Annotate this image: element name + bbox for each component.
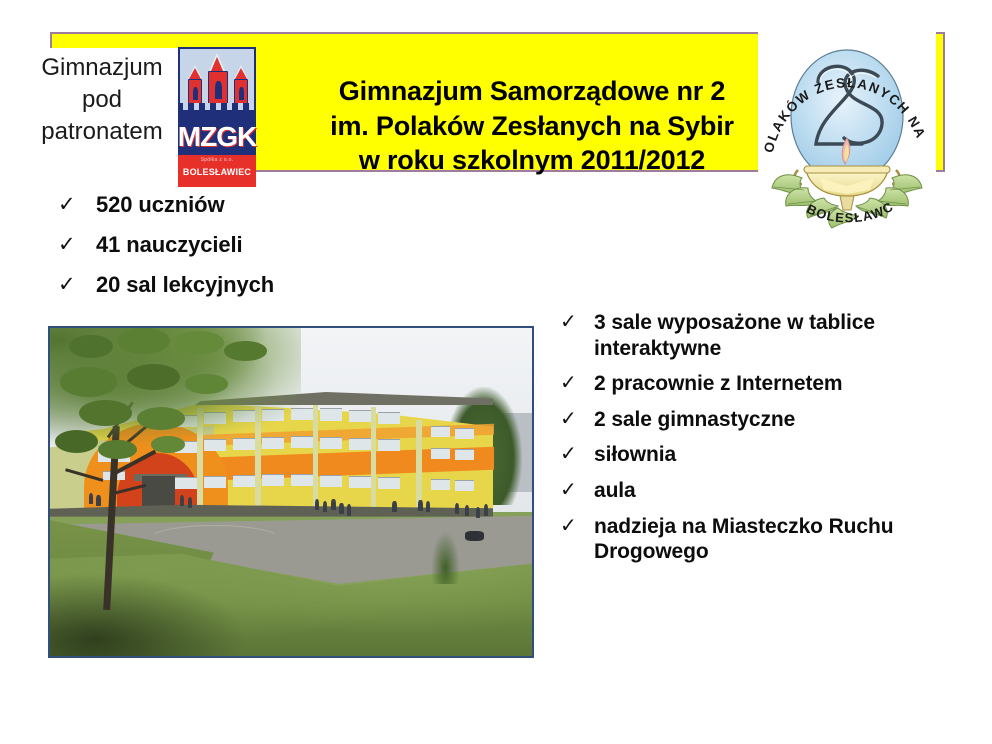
check-icon: ✓ xyxy=(560,371,594,395)
list-item-label: 41 nauczycieli xyxy=(96,232,243,259)
list-item: ✓ 2 sale gimnastyczne xyxy=(560,407,960,433)
school-building-photo xyxy=(48,326,534,658)
list-item: ✓ 520 uczniów xyxy=(58,192,478,219)
check-icon: ✓ xyxy=(58,192,96,217)
mzgk-city-text: BOLESŁAWIEC xyxy=(178,165,256,179)
check-icon: ✓ xyxy=(560,442,594,466)
school-emblem-icon: im. POLAKÓW ZESŁANYCH NA SYBIR w BOLESŁA… xyxy=(758,20,936,242)
check-icon: ✓ xyxy=(560,514,594,538)
list-item-label: 20 sal lekcyjnych xyxy=(96,272,274,299)
list-item: ✓ 20 sal lekcyjnych xyxy=(58,272,478,299)
list-item-label: nadzieja na Miasteczko Ruchu Drogowego xyxy=(594,514,960,565)
list-item-label: 520 uczniów xyxy=(96,192,225,219)
facts-list: ✓ 520 uczniów ✓ 41 nauczycieli ✓ 20 sal … xyxy=(58,192,478,311)
mzgk-wordmark: MZGK xyxy=(178,117,256,157)
mzgk-city-plate: Spółka z o.o. BOLESŁAWIEC xyxy=(178,155,256,187)
list-item-label: siłownia xyxy=(594,442,676,468)
photo-tree-shadow xyxy=(50,571,252,656)
check-icon: ✓ xyxy=(560,478,594,502)
photo-entrance xyxy=(142,476,176,509)
list-item-label: 3 sale wyposażone w tablice interaktywne xyxy=(594,310,960,361)
photo-bags xyxy=(465,531,484,541)
mzgk-logo: MZGK Spółka z o.o. BOLESŁAWIEC xyxy=(178,47,256,187)
check-icon: ✓ xyxy=(58,232,96,257)
patron-label: Gimnazjum pod patronatem xyxy=(28,48,176,148)
check-icon: ✓ xyxy=(560,310,594,334)
check-icon: ✓ xyxy=(560,407,594,431)
check-icon: ✓ xyxy=(58,272,96,297)
page-title: Gimnazjum Samorządowe nr 2 im. Polaków Z… xyxy=(282,74,782,178)
list-item-label: 2 sale gimnastyczne xyxy=(594,407,795,433)
list-item: ✓ 3 sale wyposażone w tablice interaktyw… xyxy=(560,310,960,361)
mzgk-castle-icon xyxy=(178,47,256,119)
mzgk-subtitle: Spółka z o.o. xyxy=(178,155,256,165)
mzgk-wordmark-text: MZGK xyxy=(178,123,256,151)
photo-conifer xyxy=(431,531,460,583)
list-item: ✓ aula xyxy=(560,478,960,504)
list-item: ✓ 2 pracownie z Internetem xyxy=(560,371,960,397)
list-item: ✓ siłownia xyxy=(560,442,960,468)
list-item: ✓ nadzieja na Miasteczko Ruchu Drogowego xyxy=(560,514,960,565)
features-list: ✓ 3 sale wyposażone w tablice interaktyw… xyxy=(560,310,960,575)
list-item-label: aula xyxy=(594,478,636,504)
school-emblem: im. POLAKÓW ZESŁANYCH NA SYBIR w BOLESŁA… xyxy=(758,20,936,242)
list-item: ✓ 41 nauczycieli xyxy=(58,232,478,259)
list-item-label: 2 pracownie z Internetem xyxy=(594,371,843,397)
